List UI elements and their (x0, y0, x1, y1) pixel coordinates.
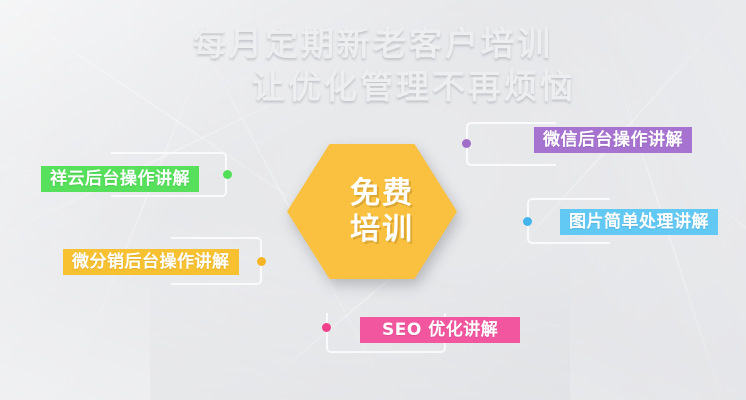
topic-label-seo[interactable]: SEO 优化讲解 (360, 317, 520, 343)
topic-label-weifenxiao[interactable]: 微分销后台操作讲解 (63, 249, 239, 275)
title-line-1: 每月定期新老客户培训 (0, 22, 746, 65)
connector-dot-seo (322, 323, 331, 332)
free-training-hexagon[interactable]: 免费 培训 (287, 144, 457, 279)
topic-label-tupian[interactable]: 图片简单处理讲解 (560, 209, 718, 235)
topic-label-weixin[interactable]: 微信后台操作讲解 (534, 127, 692, 153)
connector-dot-weifenxiao (257, 257, 266, 266)
hexagon-text: 免费 培训 (287, 144, 457, 279)
hexagon-line-1: 免费 (350, 176, 414, 212)
hexagon-line-2: 培训 (350, 212, 414, 248)
topic-label-xiangyun[interactable]: 祥云后台操作讲解 (41, 166, 199, 192)
connector-dot-weixin (462, 139, 471, 148)
connector-dot-xiangyun (223, 170, 232, 179)
connector-dot-tupian (523, 217, 532, 226)
promo-banner: 每月定期新老客户培训 让优化管理不再烦恼 祥云后台操作讲解 微分销后台操作讲解 … (0, 0, 746, 400)
title-line-2: 让优化管理不再烦恼 (0, 65, 746, 108)
page-title: 每月定期新老客户培训 让优化管理不再烦恼 (0, 22, 746, 108)
